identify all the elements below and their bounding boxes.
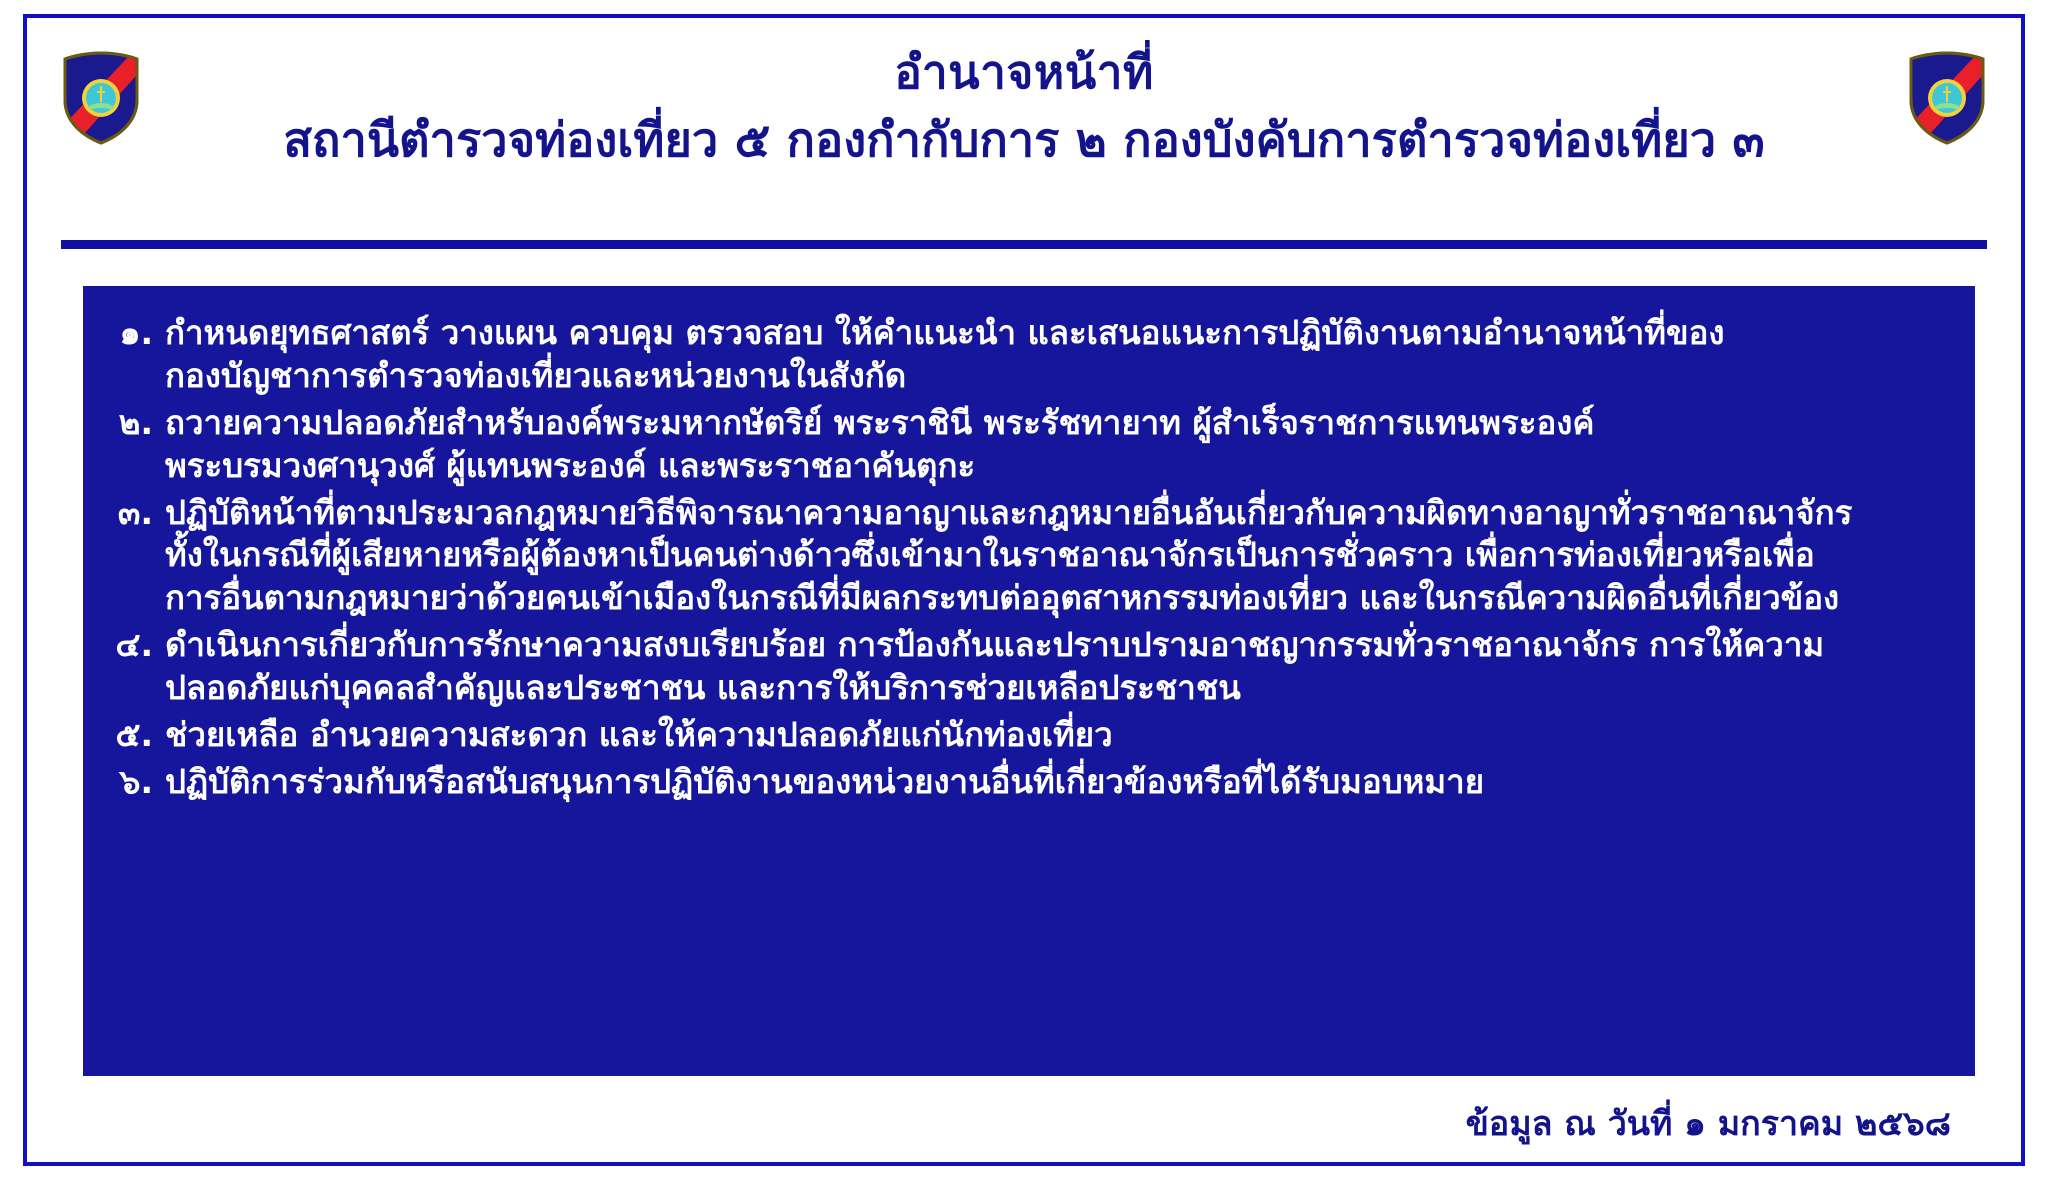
duties-list: ๑. กำหนดยุทธศาสตร์ วางแผน ควบคุม ตรวจสอบ… — [113, 312, 1945, 804]
list-item: ๖. ปฏิบัติการร่วมกับหรือสนับสนุนการปฏิบั… — [113, 761, 1945, 804]
list-item-text: ปฏิบัติการร่วมกับหรือสนับสนุนการปฏิบัติง… — [165, 761, 1945, 804]
document-header: อำนาจหน้าที่ สถานีตำรวจท่องเที่ยว ๕ กองก… — [27, 46, 2021, 169]
duties-panel: ๑. กำหนดยุทธศาสตร์ วางแผน ควบคุม ตรวจสอบ… — [83, 286, 1975, 1076]
list-item-text: ดำเนินการเกี่ยวกับการรักษาความสงบเรียบร้… — [165, 624, 1945, 710]
list-item-line: การอื่นตามกฎหมายว่าด้วยคนเข้าเมืองในกรณี… — [165, 577, 1945, 620]
list-item-line: ถวายความปลอดภัยสำหรับองค์พระมหากษัตริย์ … — [165, 402, 1945, 445]
list-item-text: กำหนดยุทธศาสตร์ วางแผน ควบคุม ตรวจสอบ ให… — [165, 312, 1945, 398]
list-item: ๔. ดำเนินการเกี่ยวกับการรักษาความสงบเรีย… — [113, 624, 1945, 710]
list-item: ๕. ช่วยเหลือ อำนวยความสะดวก และให้ความปล… — [113, 714, 1945, 757]
list-item-line: ปลอดภัยแก่บุคคลสำคัญและประชาชน และการให้… — [165, 667, 1945, 710]
list-item-number: ๖. — [113, 761, 165, 804]
list-item-line: ดำเนินการเกี่ยวกับการรักษาความสงบเรียบร้… — [165, 624, 1945, 667]
list-item: ๓. ปฏิบัติหน้าที่ตามประมวลกฎหมายวิธีพิจา… — [113, 492, 1945, 621]
list-item-line: กองบัญชาการตำรวจท่องเที่ยวและหน่วยงานในส… — [165, 355, 1945, 398]
list-item: ๒. ถวายความปลอดภัยสำหรับองค์พระมหากษัตริ… — [113, 402, 1945, 488]
page-title: อำนาจหน้าที่ — [27, 46, 2021, 99]
list-item-line: ทั้งในกรณีที่ผู้เสียหายหรือผู้ต้องหาเป็น… — [165, 534, 1945, 577]
data-as-of-date: ข้อมูล ณ วันที่ ๑ มกราคม ๒๕๖๘ — [1466, 1096, 1951, 1150]
list-item-line: ปฏิบัติการร่วมกับหรือสนับสนุนการปฏิบัติง… — [165, 761, 1945, 804]
list-item-line: ปฏิบัติหน้าที่ตามประมวลกฎหมายวิธีพิจารณา… — [165, 492, 1945, 535]
list-item-text: ช่วยเหลือ อำนวยความสะดวก และให้ความปลอดภ… — [165, 714, 1945, 757]
list-item-text: ปฏิบัติหน้าที่ตามประมวลกฎหมายวิธีพิจารณา… — [165, 492, 1945, 621]
page-subtitle: สถานีตำรวจท่องเที่ยว ๕ กองกำกับการ ๒ กอง… — [27, 113, 2021, 169]
list-item-number: ๓. — [113, 492, 165, 535]
list-item-number: ๒. — [113, 402, 165, 445]
header-divider — [61, 240, 1987, 249]
list-item-line: ช่วยเหลือ อำนวยความสะดวก และให้ความปลอดภ… — [165, 714, 1945, 757]
list-item-text: ถวายความปลอดภัยสำหรับองค์พระมหากษัตริย์ … — [165, 402, 1945, 488]
page-frame: อำนาจหน้าที่ สถานีตำรวจท่องเที่ยว ๕ กองก… — [23, 14, 2025, 1166]
list-item-line: พระบรมวงศานุวงศ์ ผู้แทนพระองค์ และพระราช… — [165, 445, 1945, 488]
list-item: ๑. กำหนดยุทธศาสตร์ วางแผน ควบคุม ตรวจสอบ… — [113, 312, 1945, 398]
list-item-number: ๔. — [113, 624, 165, 667]
list-item-line: กำหนดยุทธศาสตร์ วางแผน ควบคุม ตรวจสอบ ให… — [165, 312, 1945, 355]
list-item-number: ๑. — [113, 312, 165, 355]
list-item-number: ๕. — [113, 714, 165, 757]
